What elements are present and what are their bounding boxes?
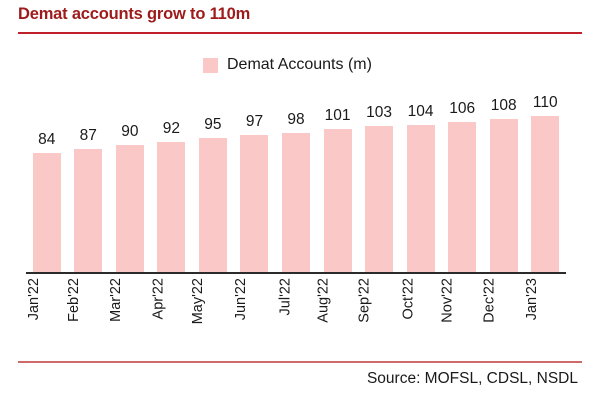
page-title: Demat accounts grow to 110m: [18, 5, 250, 24]
x-axis-tick: Mar'22: [109, 276, 151, 354]
bar-column: 108: [483, 96, 525, 274]
x-axis-tick: Dec'22: [483, 276, 525, 354]
bar: [365, 126, 393, 274]
bar-value-label: 101: [325, 107, 351, 125]
bar: [448, 122, 476, 274]
x-axis-tick: Jun'22: [234, 276, 276, 354]
x-axis-tick: Nov'22: [441, 276, 483, 354]
x-axis-line: [26, 272, 566, 274]
x-axis-tick: Aug'22: [317, 276, 359, 354]
bar-column: 106: [441, 96, 483, 274]
bar-value-label: 110: [533, 94, 558, 112]
x-axis-tick: Jan'23: [524, 276, 566, 354]
bar-column: 110: [524, 96, 566, 274]
bar: [282, 133, 310, 274]
x-axis-tick: Feb'22: [68, 276, 110, 354]
x-axis-tick-label: Dec'22: [481, 278, 497, 323]
bar-column: 97: [234, 96, 276, 274]
x-axis-tick-label: Jan'23: [524, 278, 540, 320]
bar-value-label: 97: [246, 113, 263, 131]
x-axis-tick-label: Jul'22: [277, 278, 293, 315]
bar-column: 92: [151, 96, 193, 274]
x-axis-tick-label: Jan'22: [26, 278, 42, 320]
bar: [490, 119, 518, 274]
legend-swatch-icon: [203, 58, 218, 73]
bar: [116, 145, 144, 274]
bar-value-label: 108: [491, 97, 517, 115]
chart-slide: Demat accounts grow to 110m Demat Accoun…: [0, 0, 600, 403]
bar: [324, 129, 352, 274]
bar-column: 95: [192, 96, 234, 274]
chart-plot-area: 84879092959798101103104106108110: [26, 96, 566, 274]
x-axis-tick: Jan'22: [26, 276, 68, 354]
x-axis-tick: Jul'22: [275, 276, 317, 354]
x-axis-tick: Sep'22: [358, 276, 400, 354]
title-divider: [18, 32, 582, 34]
bar-column: 98: [275, 96, 317, 274]
x-axis-tick-label: Jun'22: [233, 278, 249, 320]
bar: [157, 142, 185, 274]
bar-column: 104: [400, 96, 442, 274]
x-axis-tick-label: Aug'22: [315, 278, 331, 323]
bar: [531, 116, 559, 274]
bar-column: 90: [109, 96, 151, 274]
bar-value-label: 104: [408, 103, 434, 121]
bar-value-label: 95: [204, 116, 221, 134]
x-axis-tick: Apr'22: [151, 276, 193, 354]
x-axis-tick-label: Sep'22: [357, 278, 373, 323]
x-axis-tick: Oct'22: [400, 276, 442, 354]
bar-value-label: 90: [121, 123, 138, 141]
x-axis-tick-label: May'22: [190, 278, 206, 324]
x-axis-tick-label: Feb'22: [66, 278, 82, 322]
bar: [199, 138, 227, 274]
bar-value-label: 98: [287, 111, 304, 129]
bar: [74, 149, 102, 274]
bar-value-label: 84: [38, 131, 55, 149]
x-axis-tick-label: Oct'22: [400, 278, 416, 319]
footer-divider: [18, 361, 582, 363]
x-axis-tick-label: Apr'22: [151, 278, 167, 319]
bar-value-label: 87: [80, 127, 97, 145]
bar: [33, 153, 61, 274]
source-note: Source: MOFSL, CDSL, NSDL: [367, 370, 578, 388]
bar-value-label: 103: [366, 104, 392, 122]
bar-value-label: 106: [449, 100, 475, 118]
legend-label: Demat Accounts (m): [227, 56, 372, 74]
x-axis-tick-label: Mar'22: [108, 278, 124, 322]
bar-column: 101: [317, 96, 359, 274]
x-axis-tick: May'22: [192, 276, 234, 354]
bar-column: 103: [358, 96, 400, 274]
chart-legend: Demat Accounts (m): [203, 56, 372, 74]
bar-value-label: 92: [163, 120, 180, 138]
bar-column: 87: [68, 96, 110, 274]
bar: [240, 135, 268, 274]
x-axis-tick-labels: Jan'22Feb'22Mar'22Apr'22May'22Jun'22Jul'…: [26, 276, 566, 354]
bar-column: 84: [26, 96, 68, 274]
bar: [407, 125, 435, 274]
x-axis-tick-label: Nov'22: [440, 278, 456, 323]
